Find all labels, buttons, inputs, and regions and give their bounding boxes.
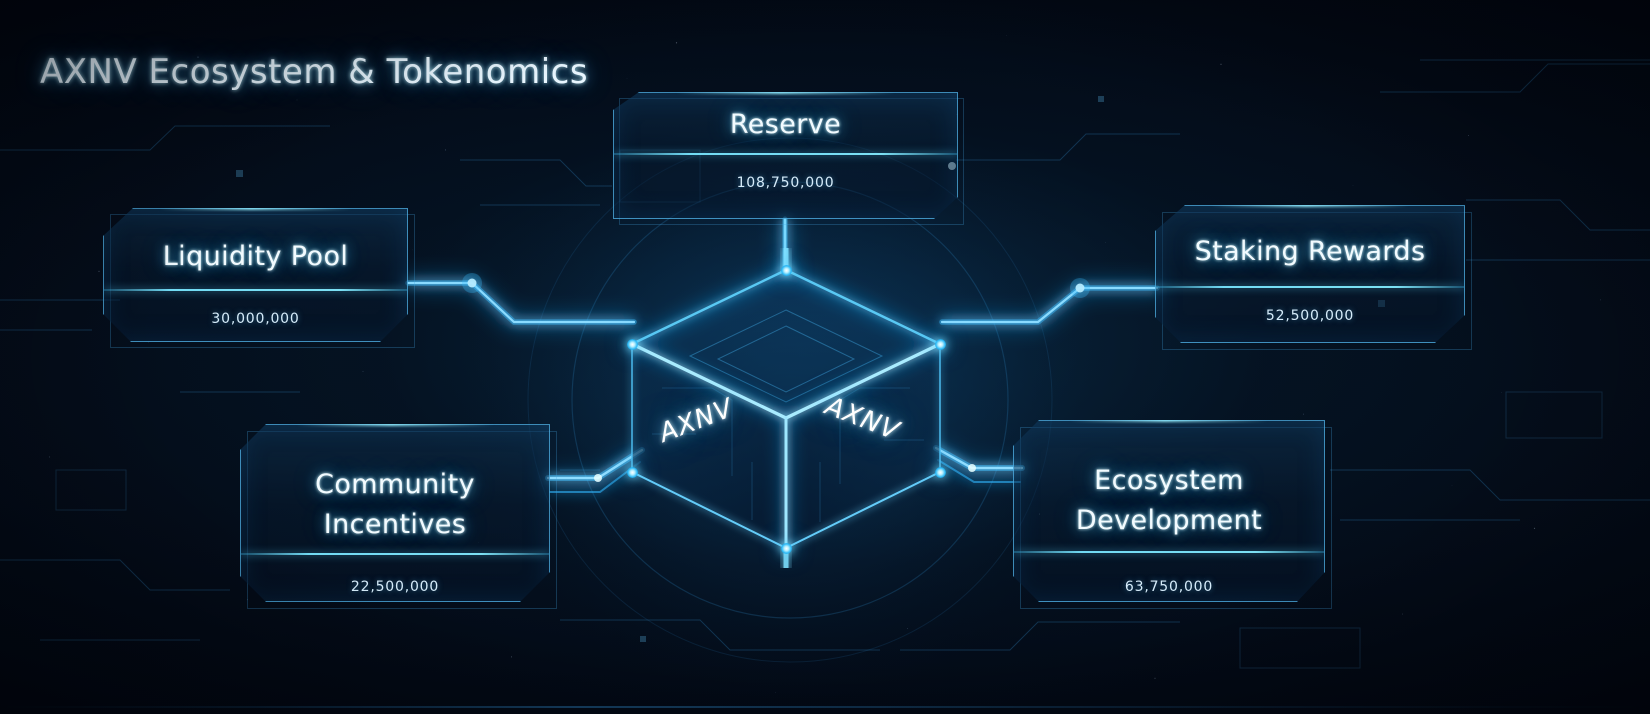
card-divider <box>241 553 549 555</box>
card-divider <box>104 289 407 291</box>
allocation-label: Staking Rewards <box>1156 232 1464 272</box>
allocation-card-reserve[interactable]: Reserve 108,750,000 <box>613 92 958 219</box>
tokenomics-infographic: AXNV AXNV AXNV Ecosystem & Tokenomics Re… <box>0 0 1650 714</box>
allocation-value: 63,750,000 <box>1014 579 1324 595</box>
allocation-label: Community Incentives <box>241 465 549 545</box>
card-top-glow <box>1211 204 1408 207</box>
card-top-glow <box>296 423 493 426</box>
cube-node-lower-right <box>935 467 946 478</box>
allocation-value: 52,500,000 <box>1156 308 1464 324</box>
allocation-card-community-incentives[interactable]: Community Incentives 22,500,000 <box>240 424 550 602</box>
allocation-value: 30,000,000 <box>104 311 407 327</box>
allocation-card-staking-rewards[interactable]: Staking Rewards 52,500,000 <box>1155 205 1465 343</box>
card-divider <box>614 153 957 155</box>
page-title: AXNV Ecosystem & Tokenomics <box>40 52 588 92</box>
card-divider <box>1156 286 1464 288</box>
card-divider <box>1014 551 1324 553</box>
card-top-glow <box>159 207 353 210</box>
card-top-glow <box>1070 419 1268 422</box>
allocation-value: 22,500,000 <box>241 579 549 595</box>
cube-node-bottom <box>781 543 792 554</box>
allocation-label: Ecosystem Development <box>1014 461 1324 541</box>
cube-node-lower-left <box>627 467 638 478</box>
card-top-glow <box>676 91 896 94</box>
cube-node-top <box>781 265 792 276</box>
cube-node-right <box>935 339 946 350</box>
allocation-value: 108,750,000 <box>614 175 957 191</box>
allocation-label: Liquidity Pool <box>104 237 407 277</box>
axnv-core-cube: AXNV AXNV <box>592 248 992 568</box>
cube-node-left <box>627 339 638 350</box>
allocation-card-liquidity-pool[interactable]: Liquidity Pool 30,000,000 <box>103 208 408 342</box>
allocation-card-ecosystem-development[interactable]: Ecosystem Development 63,750,000 <box>1013 420 1325 602</box>
allocation-label: Reserve <box>614 105 957 145</box>
cube-graphic <box>592 248 992 568</box>
